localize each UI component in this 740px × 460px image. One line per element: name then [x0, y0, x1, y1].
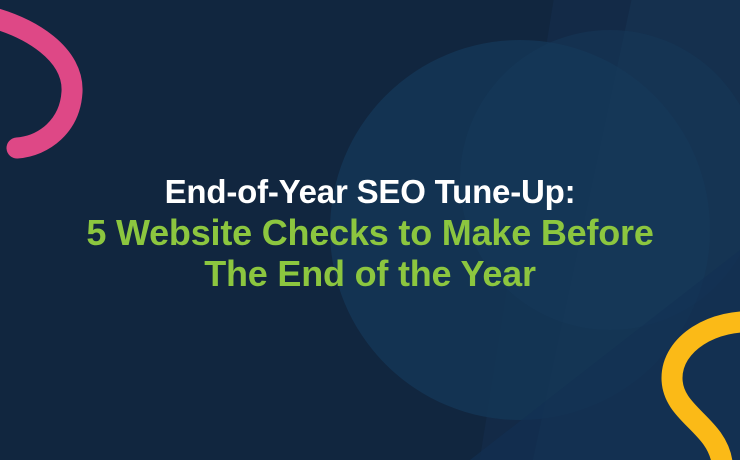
headline-line-2: 5 Website Checks to Make Before: [0, 212, 740, 253]
headline-line-1: End-of-Year SEO Tune-Up:: [0, 171, 740, 212]
headline-line-3: The End of the Year: [0, 253, 740, 294]
banner-canvas: End-of-Year SEO Tune-Up: 5 Website Check…: [0, 0, 740, 460]
yellow-swoosh: [672, 322, 740, 460]
pink-swoosh: [0, 14, 72, 148]
headline-block: End-of-Year SEO Tune-Up: 5 Website Check…: [0, 171, 740, 294]
